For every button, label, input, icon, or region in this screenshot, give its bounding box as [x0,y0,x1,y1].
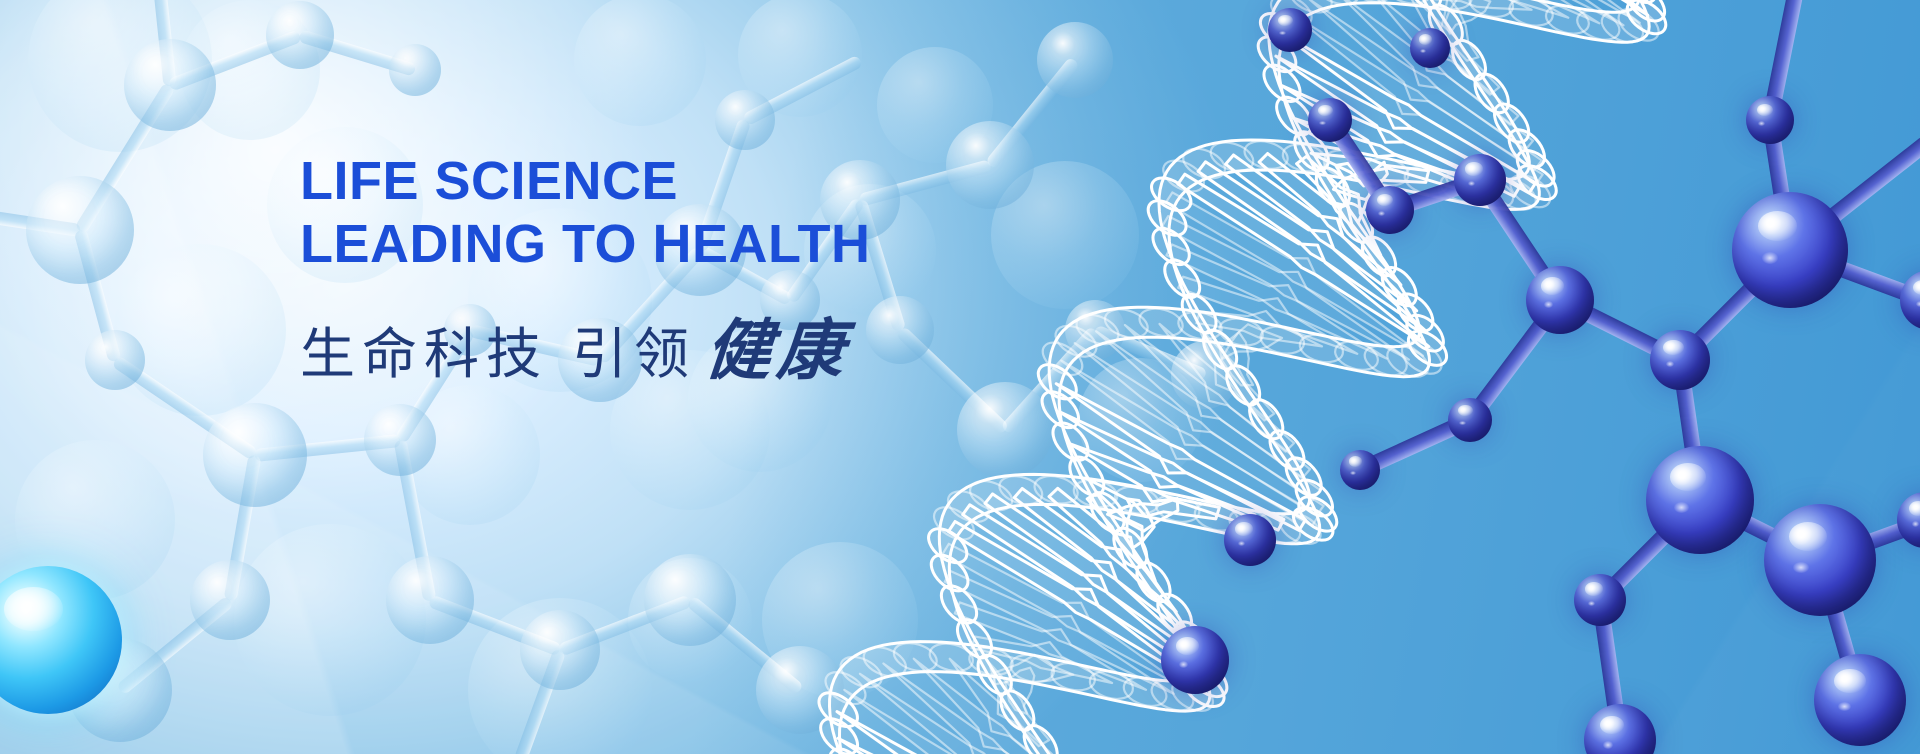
page-title: LIFE SCIENCE LEADING TO HEALTH [300,150,871,275]
subheadline-secondary: 引领 [572,309,696,389]
background-right-wash [0,0,1920,754]
headline-line-1: LIFE SCIENCE [300,150,871,213]
hero-copy-block: LIFE SCIENCE LEADING TO HEALTH 生命科技 引领 健… [300,150,871,393]
subheadline-brush: 健康 [702,297,854,393]
life-science-hero-banner: LIFE SCIENCE LEADING TO HEALTH 生命科技 引领 健… [0,0,1920,754]
headline-line-2: LEADING TO HEALTH [300,213,871,276]
subheadline-primary: 生命科技 [300,309,548,389]
subheadline: 生命科技 引领 健康 [300,297,871,393]
